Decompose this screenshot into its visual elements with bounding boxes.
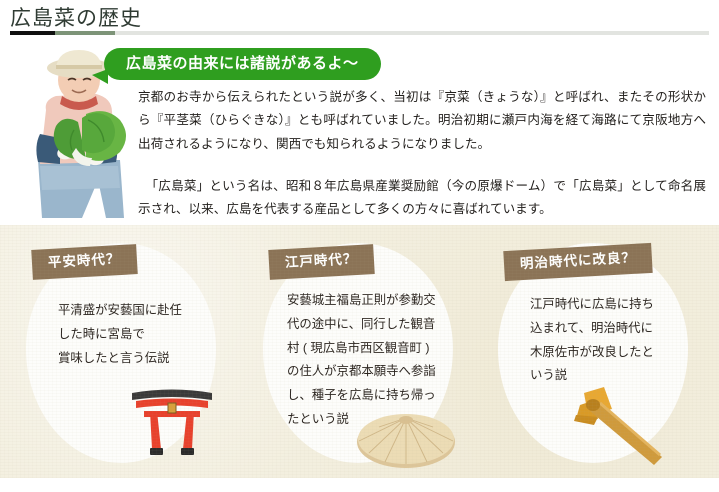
intro-paragraph-2: 「広島菜」という名は、昭和８年広島県産業奨励館（今の原爆ドーム）で「広島菜」とし…: [138, 175, 706, 222]
page-header: 広島菜の歴史: [0, 0, 719, 36]
era-card-meiji: 明治時代に改良？ 江戸時代に広島に持ち 込まれて、明治時代に 木原佐市が改良した…: [486, 233, 700, 469]
speech-bubble: 広島菜の由来には諸説があるよ〜: [104, 48, 381, 80]
torii-gate-icon: [126, 381, 218, 461]
era-card-edo: 江戸時代？ 安藝城主福島正則が参勤交 代の途中に、同行した観音 村 ( 現広島市…: [251, 233, 465, 469]
era-card-heian: 平安時代？ 平清盛が安藝国に赴任 した時に宮島で 賞味したと言う伝説: [14, 233, 228, 469]
era-tag-heian: 平安時代？: [31, 244, 137, 280]
header-rule-grey: [115, 31, 709, 35]
header-rule-black: [10, 31, 55, 35]
intro-paragraph-1: 京都のお寺から伝えられたという説が多く、当初は『京菜（きょうな）』と呼ばれ、また…: [138, 86, 706, 156]
era-text-meiji: 江戸時代に広島に持ち 込まれて、明治時代に 木原佐市が改良したと いう説: [530, 293, 686, 388]
intro-section: 広島菜の由来には諸説があるよ〜 京都のお寺から伝えられたという説が多く、当初は『…: [0, 36, 719, 225]
eras-panel: 平安時代？ 平清盛が安藝国に赴任 した時に宮島で 賞味したと言う伝説 江戸時代？…: [0, 225, 719, 478]
page-title: 広島菜の歴史: [10, 2, 142, 32]
era-text-heian: 平清盛が安藝国に赴任 した時に宮島で 賞味したと言う伝説: [58, 299, 210, 370]
header-rule-green: [55, 31, 115, 35]
straw-hat-icon: [355, 409, 457, 471]
era-tag-edo: 江戸時代？: [268, 244, 374, 280]
hoe-icon: [558, 375, 678, 467]
